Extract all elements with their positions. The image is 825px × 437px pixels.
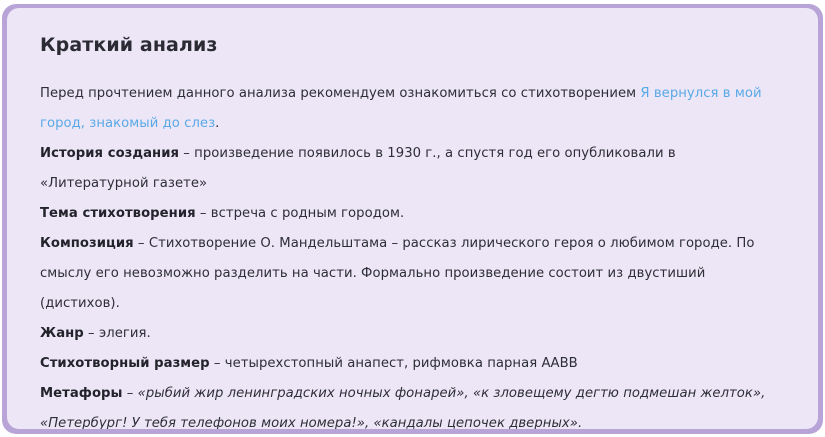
intro-text-after-link: . <box>215 116 219 131</box>
intro-text-before-link: Перед прочтением данного анализа рекомен… <box>40 86 640 101</box>
entry-text: «рыбий жир ленинградских ночных фонарей»… <box>40 386 765 429</box>
entry-term: Метафоры <box>40 386 123 401</box>
entry-dash: – <box>134 236 149 251</box>
analysis-entry-metaphors: Метафоры – «рыбий жир ленинградских ночн… <box>40 379 784 429</box>
analysis-entry-genre: Жанр – элегия. <box>40 319 784 349</box>
entry-text: встреча с родным городом. <box>211 206 404 221</box>
entry-dash: – <box>179 146 194 161</box>
entry-dash: – <box>123 386 138 401</box>
entry-dash: – <box>210 356 225 371</box>
brief-analysis-card: Краткий анализ Перед прочтением данного … <box>7 8 818 429</box>
entry-term: Тема стихотворения <box>40 206 196 221</box>
entry-term: Композиция <box>40 236 134 251</box>
entry-dash: – <box>84 326 99 341</box>
entry-term: Стихотворный размер <box>40 356 210 371</box>
analysis-entry-theme: Тема стихотворения – встреча с родным го… <box>40 199 784 229</box>
intro-paragraph: Перед прочтением данного анализа рекомен… <box>40 79 784 139</box>
entry-text: элегия. <box>99 326 151 341</box>
analysis-entry-meter: Стихотворный размер – четырехстопный ана… <box>40 349 784 379</box>
page-title: Краткий анализ <box>40 34 784 57</box>
analysis-entry-history: История создания – произведение появилос… <box>40 139 784 199</box>
entry-dash: – <box>196 206 211 221</box>
entry-term: История создания <box>40 146 179 161</box>
entry-text: четырехстопный анапест, рифмовка парная … <box>225 356 578 371</box>
entry-term: Жанр <box>40 326 84 341</box>
analysis-entry-composition: Композиция – Стихотворение О. Мандельшта… <box>40 229 784 319</box>
page-root: Краткий анализ Перед прочтением данного … <box>0 0 825 437</box>
